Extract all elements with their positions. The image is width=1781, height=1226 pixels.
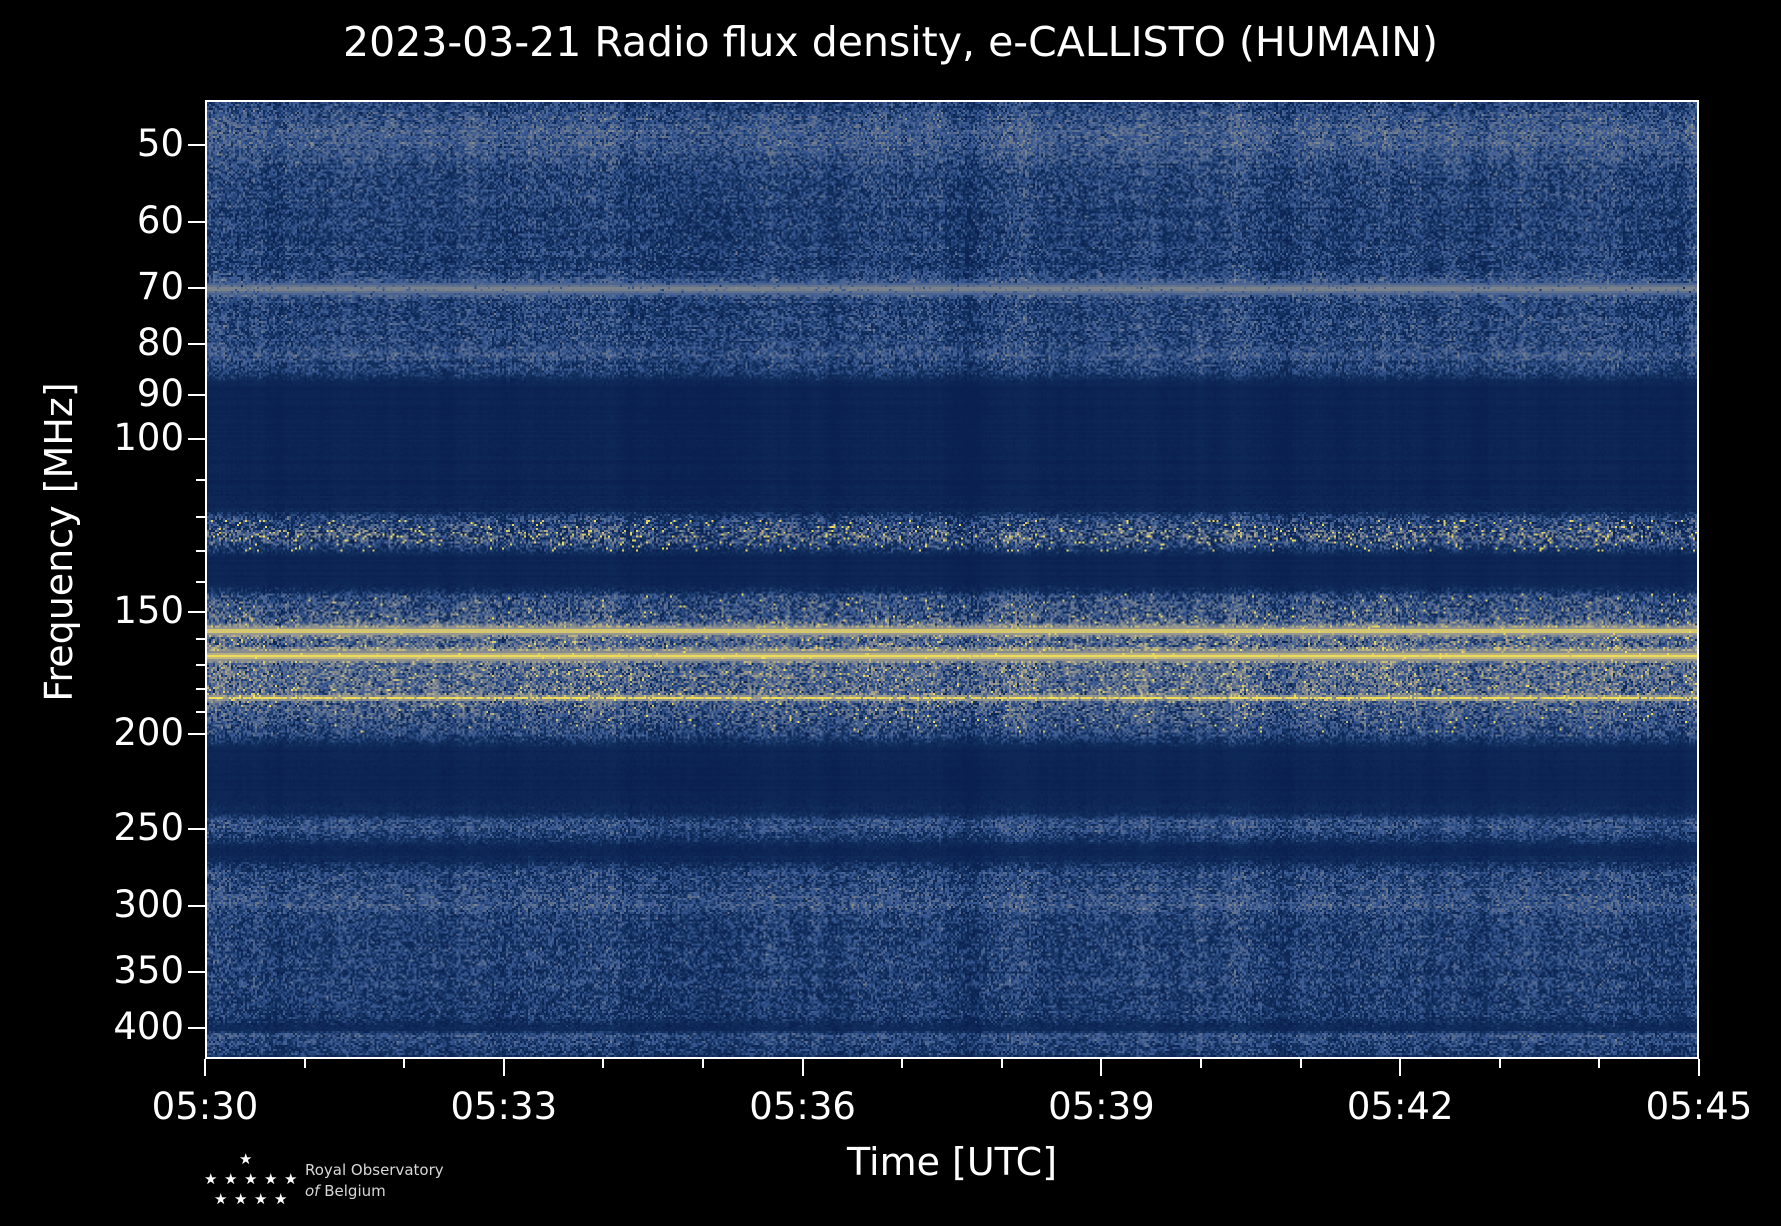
x-axis-tick-label: 05:36 — [749, 1085, 856, 1128]
y-axis-tick-minor — [196, 581, 205, 583]
spectrogram-canvas — [207, 102, 1697, 1057]
x-axis-tick-minor — [1499, 1059, 1501, 1068]
x-axis-tick-minor — [304, 1059, 306, 1068]
y-axis-label: Frequency [MHz] — [37, 192, 81, 892]
x-axis-tick-major — [1698, 1059, 1700, 1076]
x-axis-tick-major — [1100, 1059, 1102, 1076]
logo-line-2: of Belgium — [305, 1182, 444, 1201]
x-axis-tick-label: 05:30 — [152, 1085, 259, 1128]
logo-belgium-word: Belgium — [324, 1182, 386, 1200]
y-axis-tick-major — [188, 733, 205, 735]
star-icon: ★ — [284, 1172, 297, 1187]
y-axis-tick-minor — [196, 516, 205, 518]
x-axis-tick-label: 05:39 — [1048, 1085, 1155, 1128]
y-axis-tick-label: 90 — [137, 375, 184, 412]
x-axis-tick-major — [204, 1059, 206, 1076]
y-axis-tick-major — [188, 438, 205, 440]
x-axis-tick-major — [1399, 1059, 1401, 1076]
star-icon: ★ — [254, 1192, 267, 1207]
y-axis-tick-minor — [196, 711, 205, 713]
star-icon: ★ — [234, 1192, 247, 1207]
star-icon: ★ — [224, 1172, 237, 1187]
y-axis-tick-major — [188, 221, 205, 223]
y-axis-tick-minor — [196, 638, 205, 640]
y-axis-tick-major — [188, 1027, 205, 1029]
y-axis-tick-major — [188, 394, 205, 396]
y-axis-tick-minor — [196, 664, 205, 666]
star-icon: ★ — [239, 1152, 252, 1167]
y-axis-tick-label: 100 — [113, 419, 184, 456]
royal-observatory-logo: ★★★★★★★★★★ Royal Observatory of Belgium — [196, 1148, 496, 1214]
x-axis-tick-major — [802, 1059, 804, 1076]
x-axis-tick-minor — [602, 1059, 604, 1068]
y-axis-tick-label: 200 — [113, 714, 184, 751]
spectrogram-plot-area[interactable] — [205, 100, 1699, 1059]
star-icon: ★ — [244, 1172, 257, 1187]
star-icon: ★ — [264, 1172, 277, 1187]
y-axis-tick-label: 400 — [113, 1008, 184, 1045]
star-icon: ★ — [214, 1192, 227, 1207]
y-axis-tick-major — [188, 828, 205, 830]
y-axis-tick-major — [188, 144, 205, 146]
star-icon: ★ — [204, 1172, 217, 1187]
y-axis-tick-major — [188, 611, 205, 613]
x-axis-tick-minor — [403, 1059, 405, 1068]
y-axis-tick-label: 150 — [113, 592, 184, 629]
logo-stars-icon: ★★★★★★★★★★ — [196, 1150, 296, 1212]
y-axis-tick-label: 300 — [113, 886, 184, 923]
x-axis-tick-label: 05:45 — [1646, 1085, 1753, 1128]
x-axis-tick-minor — [1300, 1059, 1302, 1068]
radio-spectrogram-figure: 2023-03-21 Radio flux density, e-CALLIST… — [0, 0, 1781, 1226]
star-icon: ★ — [274, 1192, 287, 1207]
y-axis-tick-label: 350 — [113, 952, 184, 989]
y-axis-tick-label: 80 — [137, 324, 184, 361]
y-axis-tick-major — [188, 971, 205, 973]
logo-line-1: Royal Observatory — [305, 1161, 444, 1180]
x-axis-tick-label: 05:33 — [450, 1085, 557, 1128]
x-axis-tick-major — [503, 1059, 505, 1076]
y-axis-tick-major — [188, 343, 205, 345]
y-axis-tick-minor — [196, 550, 205, 552]
y-axis-tick-major — [188, 905, 205, 907]
y-axis-tick-label: 250 — [113, 809, 184, 846]
x-axis-tick-minor — [1200, 1059, 1202, 1068]
y-axis-tick-minor — [196, 688, 205, 690]
y-axis-tick-major — [188, 287, 205, 289]
x-axis-tick-minor — [702, 1059, 704, 1068]
x-axis-tick-minor — [1598, 1059, 1600, 1068]
page-title: 2023-03-21 Radio flux density, e-CALLIST… — [0, 18, 1781, 66]
x-axis-tick-minor — [901, 1059, 903, 1068]
x-axis-tick-label: 05:42 — [1347, 1085, 1454, 1128]
y-axis-tick-label: 60 — [137, 202, 184, 239]
x-axis-tick-minor — [1001, 1059, 1003, 1068]
y-axis-tick-minor — [196, 479, 205, 481]
logo-text: Royal Observatory of Belgium — [305, 1161, 444, 1201]
y-axis-tick-label: 50 — [137, 125, 184, 162]
logo-of-word: of — [305, 1182, 319, 1200]
y-axis-tick-label: 70 — [137, 268, 184, 305]
